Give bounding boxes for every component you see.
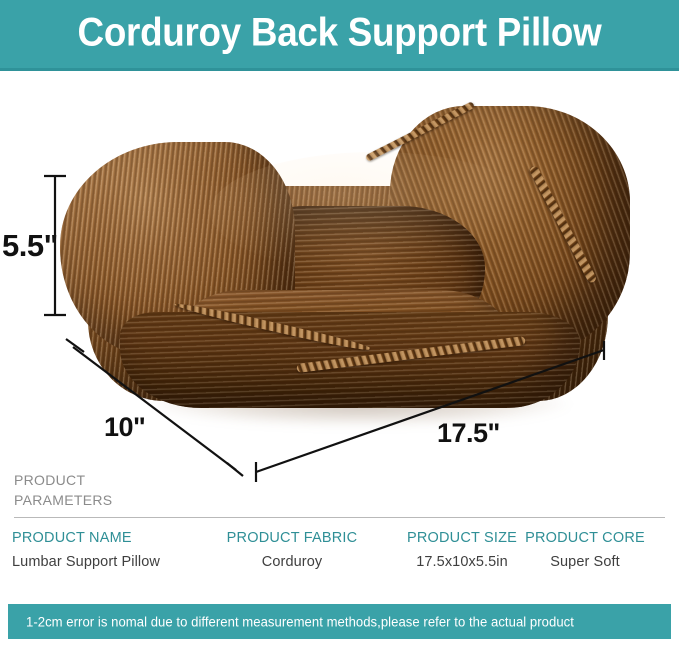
parameter-value-product-core: Super Soft [520,553,650,571]
parameter-column-product-fabric: PRODUCT FABRIC Corduroy [222,529,362,571]
dimension-label-depth: 10" [104,412,145,443]
parameters-heading-line2: PARAMETERS [14,490,112,510]
parameter-column-product-core: PRODUCT CORE Super Soft [520,529,650,571]
dimension-label-width: 17.5" [437,418,500,449]
header-banner: Corduroy Back Support Pillow [0,0,679,71]
parameters-table: PRODUCT NAME Lumbar Support Pillow PRODU… [0,529,679,579]
dimension-label-height: 5.5" [2,228,58,264]
dimension-tick-depth-end [227,463,243,476]
parameters-heading: PRODUCT PARAMETERS [14,470,112,510]
parameter-header-product-fabric: PRODUCT FABRIC [222,529,362,547]
parameter-value-product-fabric: Corduroy [222,553,362,571]
footer-note-banner: 1-2cm error is nomal due to different me… [8,604,671,639]
product-pillow-illustration [60,94,630,444]
footer-note-text: 1-2cm error is nomal due to different me… [26,614,574,629]
parameter-column-product-name: PRODUCT NAME Lumbar Support Pillow [12,529,172,571]
parameter-header-product-name: PRODUCT NAME [12,529,172,547]
parameter-header-product-core: PRODUCT CORE [520,529,650,547]
parameter-column-product-size: PRODUCT SIZE 17.5x10x5.5in [402,529,522,571]
parameter-value-product-name: Lumbar Support Pillow [12,553,172,571]
product-image-stage [0,74,679,459]
parameter-header-product-size: PRODUCT SIZE [402,529,522,547]
page-title: Corduroy Back Support Pillow [27,11,652,56]
parameters-divider [14,517,665,518]
parameter-value-product-size: 17.5x10x5.5in [402,553,522,571]
parameters-heading-line1: PRODUCT [14,470,112,490]
